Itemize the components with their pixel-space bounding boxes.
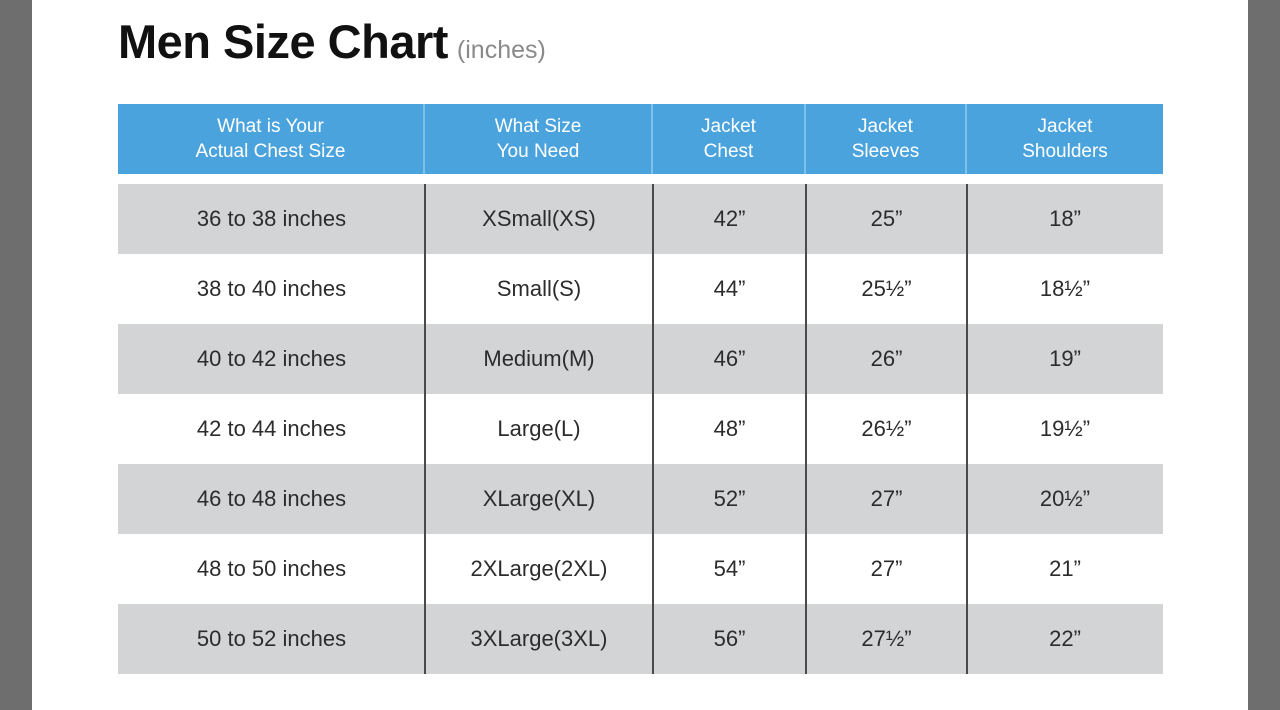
column-header-size-you-need: What Size You Need	[425, 104, 653, 174]
cell-jacket-shoulders: 19”	[967, 324, 1163, 394]
size-chart-table: What is Your Actual Chest Size What Size…	[118, 104, 1163, 674]
cell-jacket-sleeves: 27”	[806, 464, 967, 534]
page-title-unit: (inches)	[457, 38, 546, 63]
cell-jacket-shoulders: 18”	[967, 184, 1163, 254]
column-header-line2: Sleeves	[852, 139, 920, 164]
cell-jacket-chest: 56”	[653, 604, 806, 674]
cell-jacket-shoulders: 19½”	[967, 394, 1163, 464]
column-header-jacket-shoulders: Jacket Shoulders	[967, 104, 1163, 174]
cell-jacket-chest: 46”	[653, 324, 806, 394]
cell-size-needed: XSmall(XS)	[425, 184, 653, 254]
cell-size-needed: Large(L)	[425, 394, 653, 464]
cell-jacket-chest: 52”	[653, 464, 806, 534]
cell-jacket-chest: 48”	[653, 394, 806, 464]
cell-jacket-shoulders: 20½”	[967, 464, 1163, 534]
column-header-line2: You Need	[497, 139, 580, 164]
cell-jacket-chest: 42”	[653, 184, 806, 254]
column-header-line1: Jacket	[1038, 114, 1093, 139]
table-row: 38 to 40 inches Small(S) 44” 25½” 18½”	[118, 254, 1163, 324]
cell-size-needed: 3XLarge(3XL)	[425, 604, 653, 674]
cell-jacket-sleeves: 27”	[806, 534, 967, 604]
cell-size-needed: XLarge(XL)	[425, 464, 653, 534]
cell-jacket-sleeves: 25”	[806, 184, 967, 254]
cell-jacket-chest: 44”	[653, 254, 806, 324]
cell-jacket-sleeves: 26½”	[806, 394, 967, 464]
column-header-line2: Actual Chest Size	[196, 139, 346, 164]
page-title: Men Size Chart (inches)	[118, 18, 546, 65]
cell-jacket-shoulders: 21”	[967, 534, 1163, 604]
table-row: 36 to 38 inches XSmall(XS) 42” 25” 18”	[118, 184, 1163, 254]
cell-jacket-chest: 54”	[653, 534, 806, 604]
table-row: 40 to 42 inches Medium(M) 46” 26” 19”	[118, 324, 1163, 394]
chart-page: Men Size Chart (inches) What is Your Act…	[32, 0, 1248, 710]
column-header-line2: Shoulders	[1022, 139, 1108, 164]
cell-jacket-sleeves: 26”	[806, 324, 967, 394]
cell-chest-range: 50 to 52 inches	[118, 604, 425, 674]
column-header-jacket-chest: Jacket Chest	[653, 104, 806, 174]
cell-jacket-shoulders: 22”	[967, 604, 1163, 674]
cell-jacket-sleeves: 25½”	[806, 254, 967, 324]
cell-chest-range: 48 to 50 inches	[118, 534, 425, 604]
letterbox-band-left	[0, 0, 32, 710]
cell-chest-range: 40 to 42 inches	[118, 324, 425, 394]
cell-chest-range: 42 to 44 inches	[118, 394, 425, 464]
column-header-line1: What Size	[495, 114, 582, 139]
column-header-line1: Jacket	[858, 114, 913, 139]
cell-jacket-sleeves: 27½”	[806, 604, 967, 674]
table-row: 50 to 52 inches 3XLarge(3XL) 56” 27½” 22…	[118, 604, 1163, 674]
cell-chest-range: 36 to 38 inches	[118, 184, 425, 254]
table-row: 46 to 48 inches XLarge(XL) 52” 27” 20½”	[118, 464, 1163, 534]
column-header-actual-chest-size: What is Your Actual Chest Size	[118, 104, 425, 174]
table-row: 42 to 44 inches Large(L) 48” 26½” 19½”	[118, 394, 1163, 464]
table-body: 36 to 38 inches XSmall(XS) 42” 25” 18” 3…	[118, 184, 1163, 674]
letterbox-band-right	[1248, 0, 1280, 710]
column-header-line1: Jacket	[701, 114, 756, 139]
cell-size-needed: Small(S)	[425, 254, 653, 324]
column-header-line2: Chest	[704, 139, 754, 164]
screenshot-stage: Men Size Chart (inches) What is Your Act…	[0, 0, 1280, 710]
cell-chest-range: 38 to 40 inches	[118, 254, 425, 324]
column-header-jacket-sleeves: Jacket Sleeves	[806, 104, 967, 174]
cell-chest-range: 46 to 48 inches	[118, 464, 425, 534]
cell-jacket-shoulders: 18½”	[967, 254, 1163, 324]
cell-size-needed: 2XLarge(2XL)	[425, 534, 653, 604]
cell-size-needed: Medium(M)	[425, 324, 653, 394]
table-header-row: What is Your Actual Chest Size What Size…	[118, 104, 1163, 174]
column-header-line1: What is Your	[217, 114, 324, 139]
page-title-main: Men Size Chart	[118, 18, 448, 65]
table-row: 48 to 50 inches 2XLarge(2XL) 54” 27” 21”	[118, 534, 1163, 604]
